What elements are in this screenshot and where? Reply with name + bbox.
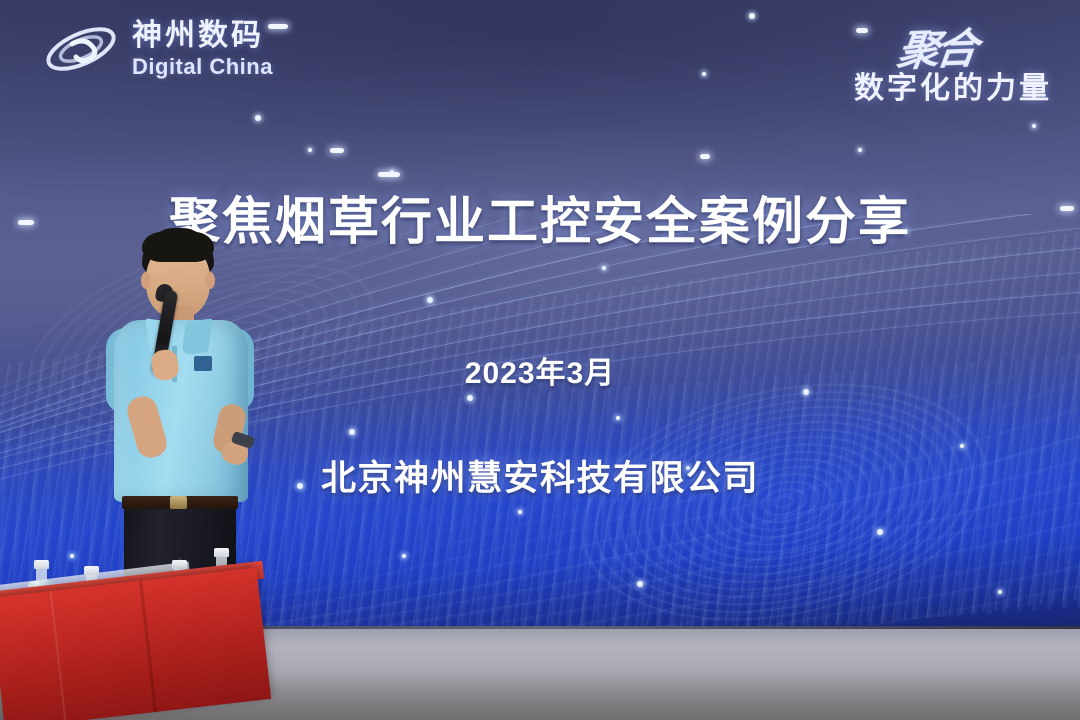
- conference-stage-photo: 神州数码 Digital China 聚合 数字化的力量 聚焦烟草行业工控安全案…: [0, 0, 1080, 720]
- glow-particle: [402, 554, 406, 558]
- glow-particle: [749, 13, 755, 19]
- glow-particle: [518, 510, 522, 514]
- glow-particle: [467, 395, 473, 401]
- glow-particle: [349, 429, 355, 435]
- event-slogan: 聚合 数字化的力量: [854, 16, 1052, 107]
- brand-name-en: Digital China: [132, 56, 273, 78]
- glow-particle: [616, 416, 620, 420]
- glow-particle: [308, 148, 312, 152]
- brand-name-cn: 神州数码: [132, 21, 273, 51]
- speaker-ear-right: [205, 272, 215, 289]
- glow-particle: [877, 529, 883, 535]
- glow-particle: [998, 590, 1002, 594]
- glow-dash: [378, 172, 400, 177]
- glow-particle: [427, 297, 433, 303]
- brand-wordmark: 神州数码 Digital China: [132, 21, 273, 78]
- glow-particle: [702, 72, 706, 76]
- speaker-hair-front: [142, 232, 214, 262]
- glow-particle: [255, 115, 261, 121]
- glow-particle: [70, 554, 74, 558]
- glow-dash: [330, 148, 344, 153]
- speaker-chest-logo-icon: [194, 356, 212, 371]
- glow-particle: [390, 170, 394, 174]
- speaker-ear-left: [141, 272, 151, 289]
- glow-particle: [858, 148, 862, 152]
- glow-particle: [637, 581, 643, 587]
- glow-particle: [960, 444, 964, 448]
- glow-particle: [602, 266, 606, 270]
- speaker-belt-buckle: [170, 496, 187, 509]
- brand-logo: 神州数码 Digital China: [42, 18, 273, 80]
- galaxy-spiral-icon: [42, 18, 120, 80]
- slogan-brush-text: 聚合: [894, 15, 978, 79]
- glow-particle: [1032, 124, 1036, 128]
- glow-dash: [700, 154, 710, 159]
